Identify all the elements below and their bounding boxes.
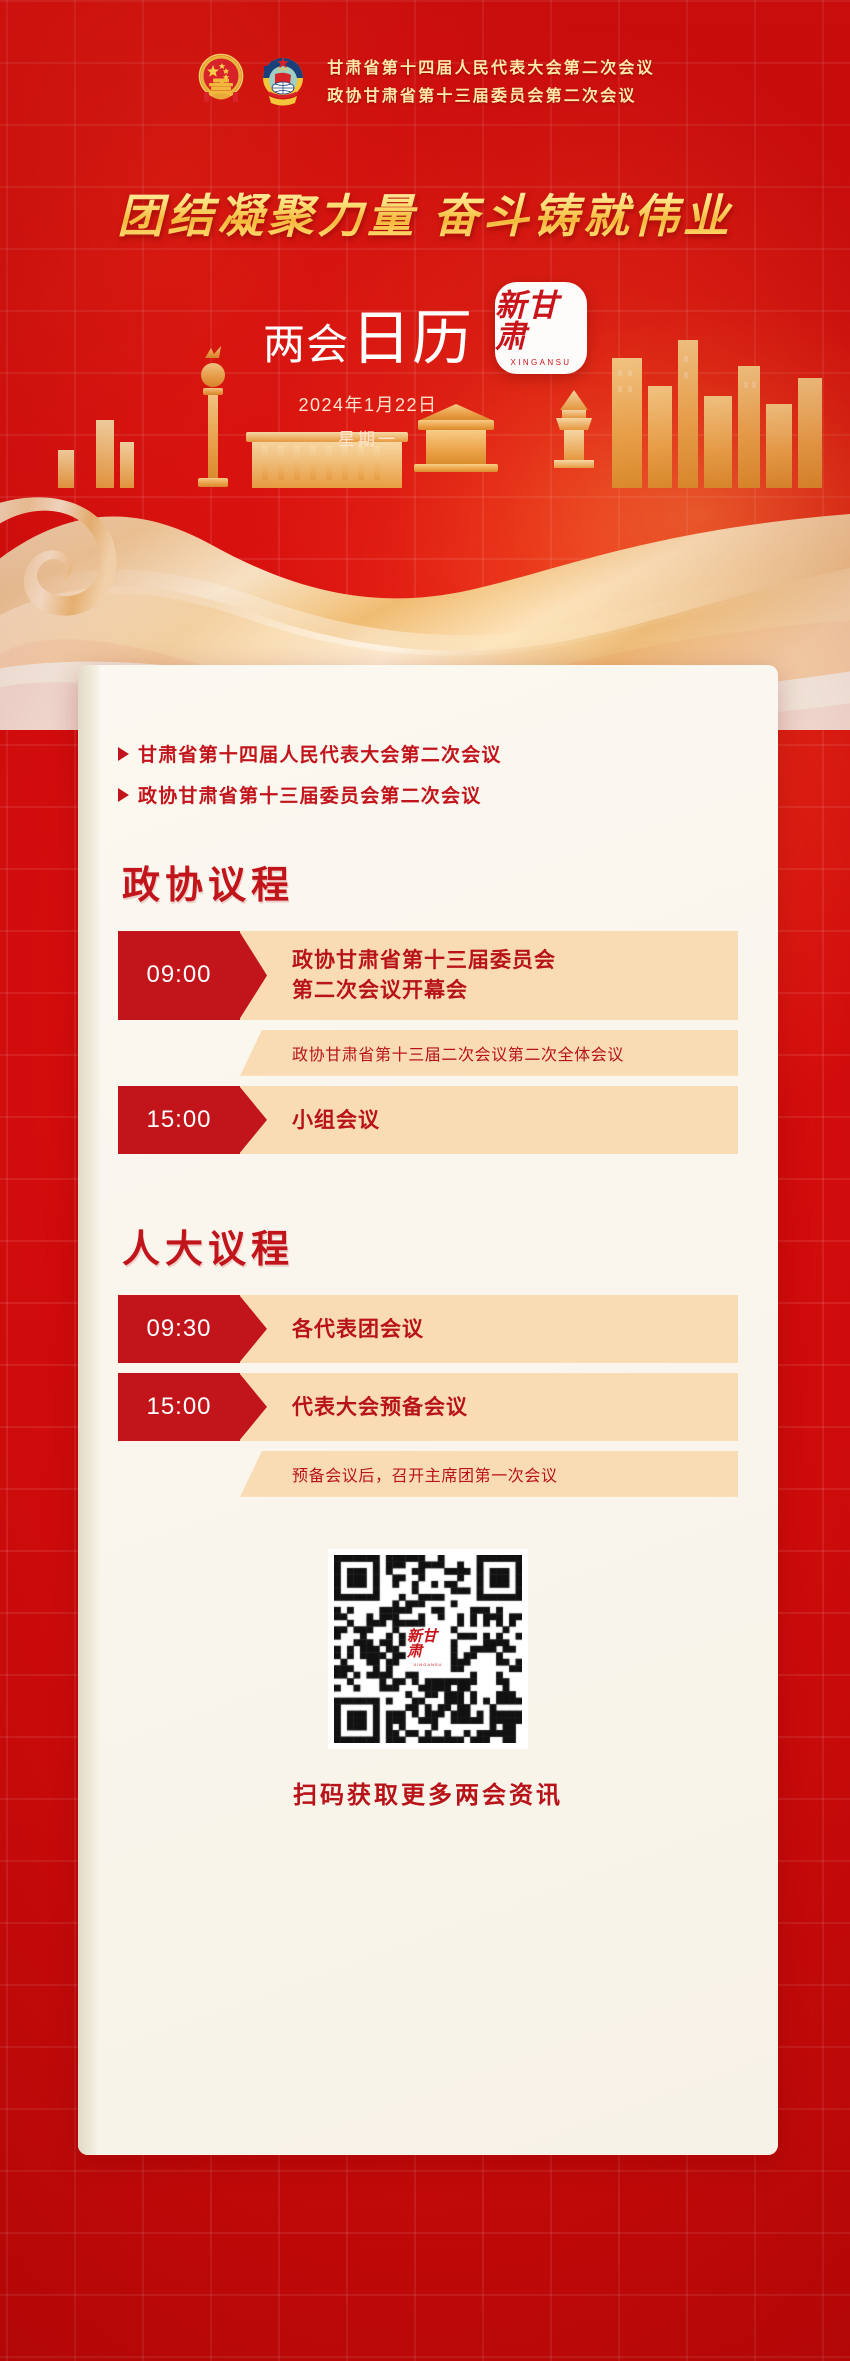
table-row-sub: 政协甘肃省第十三届二次会议第二次全体会议 (118, 1030, 738, 1076)
xingansu-logo-badge[interactable]: 新甘肃 XINGANSU (495, 282, 587, 374)
triangle-bullet-icon (118, 788, 129, 802)
row-spacer (118, 1451, 240, 1497)
row-text: 各代表团会议 (240, 1295, 738, 1363)
poster-header: 1949 甘肃省第十四届人民代表大会第二次会议 政协甘肃省第十三届委员会第二次会… (0, 52, 850, 108)
qr-section: 新甘肃 XINGANSU 扫码获取更多两会资讯 (118, 1549, 738, 1810)
row-subtext: 政协甘肃省第十三届二次会议第二次全体会议 (240, 1030, 738, 1076)
table-row: 09:30 各代表团会议 (118, 1295, 738, 1363)
table-row: 15:00 代表大会预备会议 (118, 1373, 738, 1441)
row-text: 代表大会预备会议 (240, 1373, 738, 1441)
calendar-title-big: 日历 (351, 290, 473, 377)
bullet-label: 甘肃省第十四届人民代表大会第二次会议 (138, 740, 502, 767)
calendar-date: 2024年1月22日 (263, 391, 473, 417)
logo-main-text: 新甘肃 (495, 290, 587, 352)
calendar-title-block: 两会 日历 2024年1月22日 星期一 新甘肃 XINGANSU (0, 278, 850, 450)
triangle-bullet-icon (118, 747, 129, 761)
qr-code[interactable]: 新甘肃 XINGANSU (328, 1549, 528, 1749)
agenda-card-left-edge (78, 665, 100, 2155)
qr-caption: 扫码获取更多两会资讯 (293, 1775, 563, 1810)
list-item: 政协甘肃省第十三届委员会第二次会议 (118, 781, 738, 808)
row-subtext: 预备会议后，召开主席团第一次会议 (240, 1451, 738, 1497)
qr-logo-sub: XINGANSU (414, 1662, 443, 1667)
national-emblem-icon (195, 52, 247, 108)
row-spacer (118, 1030, 240, 1076)
header-title-line1: 甘肃省第十四届人民代表大会第二次会议 (327, 54, 655, 78)
meeting-bullet-list: 甘肃省第十四届人民代表大会第二次会议 政协甘肃省第十三届委员会第二次会议 (118, 740, 738, 808)
calendar-title: 两会 日历 (263, 290, 473, 377)
section-heading-cppcc: 政协议程 (122, 854, 738, 909)
header-title-block: 甘肃省第十四届人民代表大会第二次会议 政协甘肃省第十三届委员会第二次会议 (327, 54, 655, 106)
header-title-line2: 政协甘肃省第十三届委员会第二次会议 (327, 82, 655, 106)
section-heading-npc: 人大议程 (122, 1218, 738, 1273)
row-text: 政协甘肃省第十三届委员会 第二次会议开幕会 (240, 931, 738, 1020)
row-time: 09:00 (118, 931, 240, 1020)
row-time: 15:00 (118, 1373, 240, 1441)
row-time: 15:00 (118, 1086, 240, 1154)
row-text: 小组会议 (240, 1086, 738, 1154)
bullet-label: 政协甘肃省第十三届委员会第二次会议 (138, 781, 481, 808)
agenda-card-content: 甘肃省第十四届人民代表大会第二次会议 政协甘肃省第十三届委员会第二次会议 政协议… (118, 700, 738, 1810)
logo-sub-text: XINGANSU (511, 358, 572, 367)
row-time: 09:30 (118, 1295, 240, 1363)
calendar-weekday: 星期一 (263, 425, 473, 450)
table-row: 09:00 政协甘肃省第十三届委员会 第二次会议开幕会 (118, 931, 738, 1020)
table-row: 15:00 小组会议 (118, 1086, 738, 1154)
main-slogan: 团结凝聚力量 奋斗铸就伟业 (0, 180, 850, 246)
svg-text:1949: 1949 (278, 67, 289, 73)
qr-logo-main: 新甘肃 (407, 1630, 449, 1660)
cppcc-emblem-icon: 1949 (257, 52, 309, 108)
qr-center-logo: 新甘肃 XINGANSU (407, 1628, 449, 1670)
calendar-title-small: 两会 (263, 311, 349, 372)
table-row-sub: 预备会议后，召开主席团第一次会议 (118, 1451, 738, 1497)
list-item: 甘肃省第十四届人民代表大会第二次会议 (118, 740, 738, 767)
